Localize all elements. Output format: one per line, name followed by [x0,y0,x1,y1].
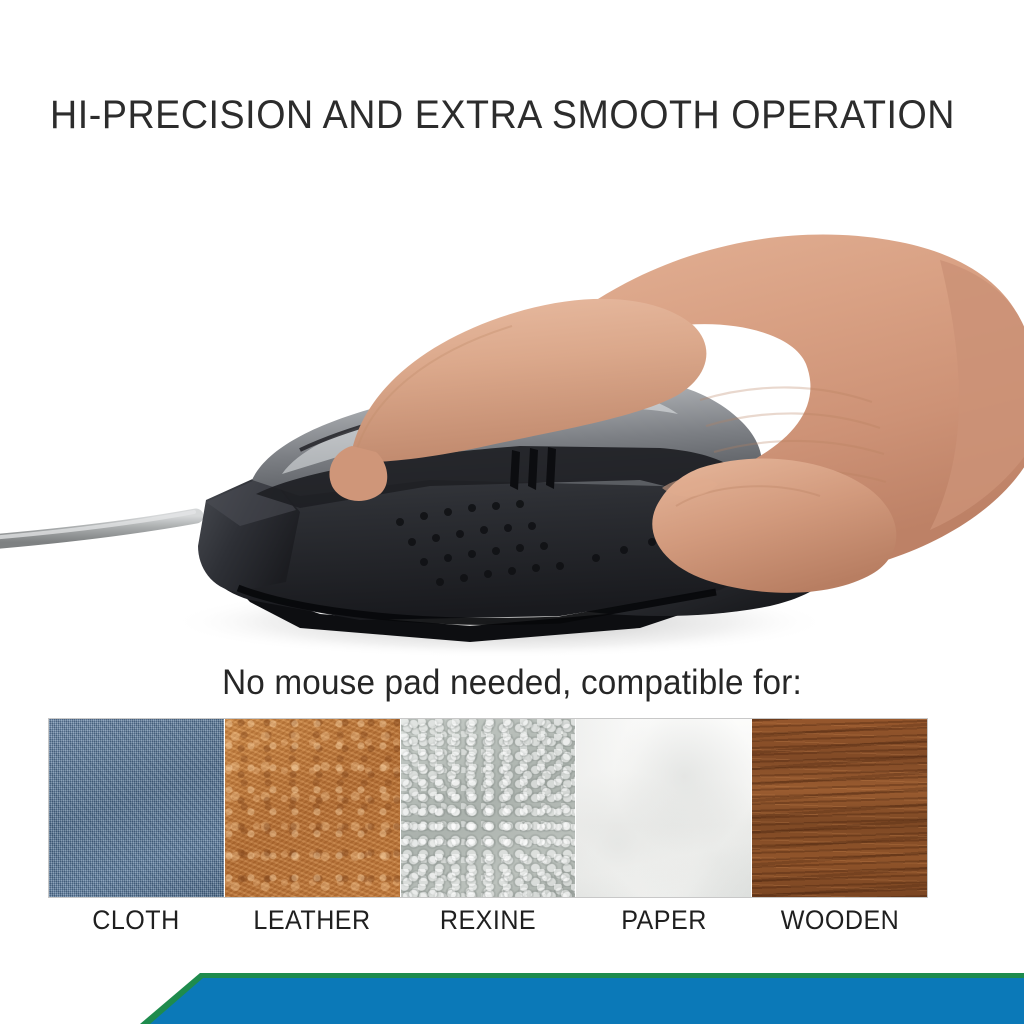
swatch-wooden [752,719,927,897]
swatch-label-paper: PAPER [582,905,746,936]
surface-label-row: CLOTH LEATHER REXINE PAPER WOODEN [48,905,928,936]
surface-swatch-strip [48,718,928,898]
product-photo [0,150,1024,660]
vent-ridges [510,447,556,490]
paper-texture [576,719,751,897]
swatch-leather [225,719,401,897]
leather-texture [225,719,400,897]
mouse-cable [0,516,196,542]
banner-blue-fill [150,978,1024,1024]
bottom-banner [0,960,1024,1024]
product-feature-panel: HI-PRECISION AND EXTRA SMOOTH OPERATION [0,0,1024,1024]
mouse-in-hand-illustration [0,150,1024,660]
wooden-texture [752,719,927,897]
swatch-paper [576,719,752,897]
swatch-cloth [49,719,225,897]
page-title: HI-PRECISION AND EXTRA SMOOTH OPERATION [50,92,924,138]
subheading: No mouse pad needed, compatible for: [26,662,999,704]
swatch-label-cloth: CLOTH [54,905,218,936]
swatch-label-leather: LEATHER [230,905,394,936]
banner-shape [0,960,1024,1024]
swatch-rexine [401,719,577,897]
swatch-label-rexine: REXINE [406,905,570,936]
cloth-texture [49,719,224,897]
swatch-label-wooden: WOODEN [758,905,922,936]
rexine-texture [401,719,576,897]
